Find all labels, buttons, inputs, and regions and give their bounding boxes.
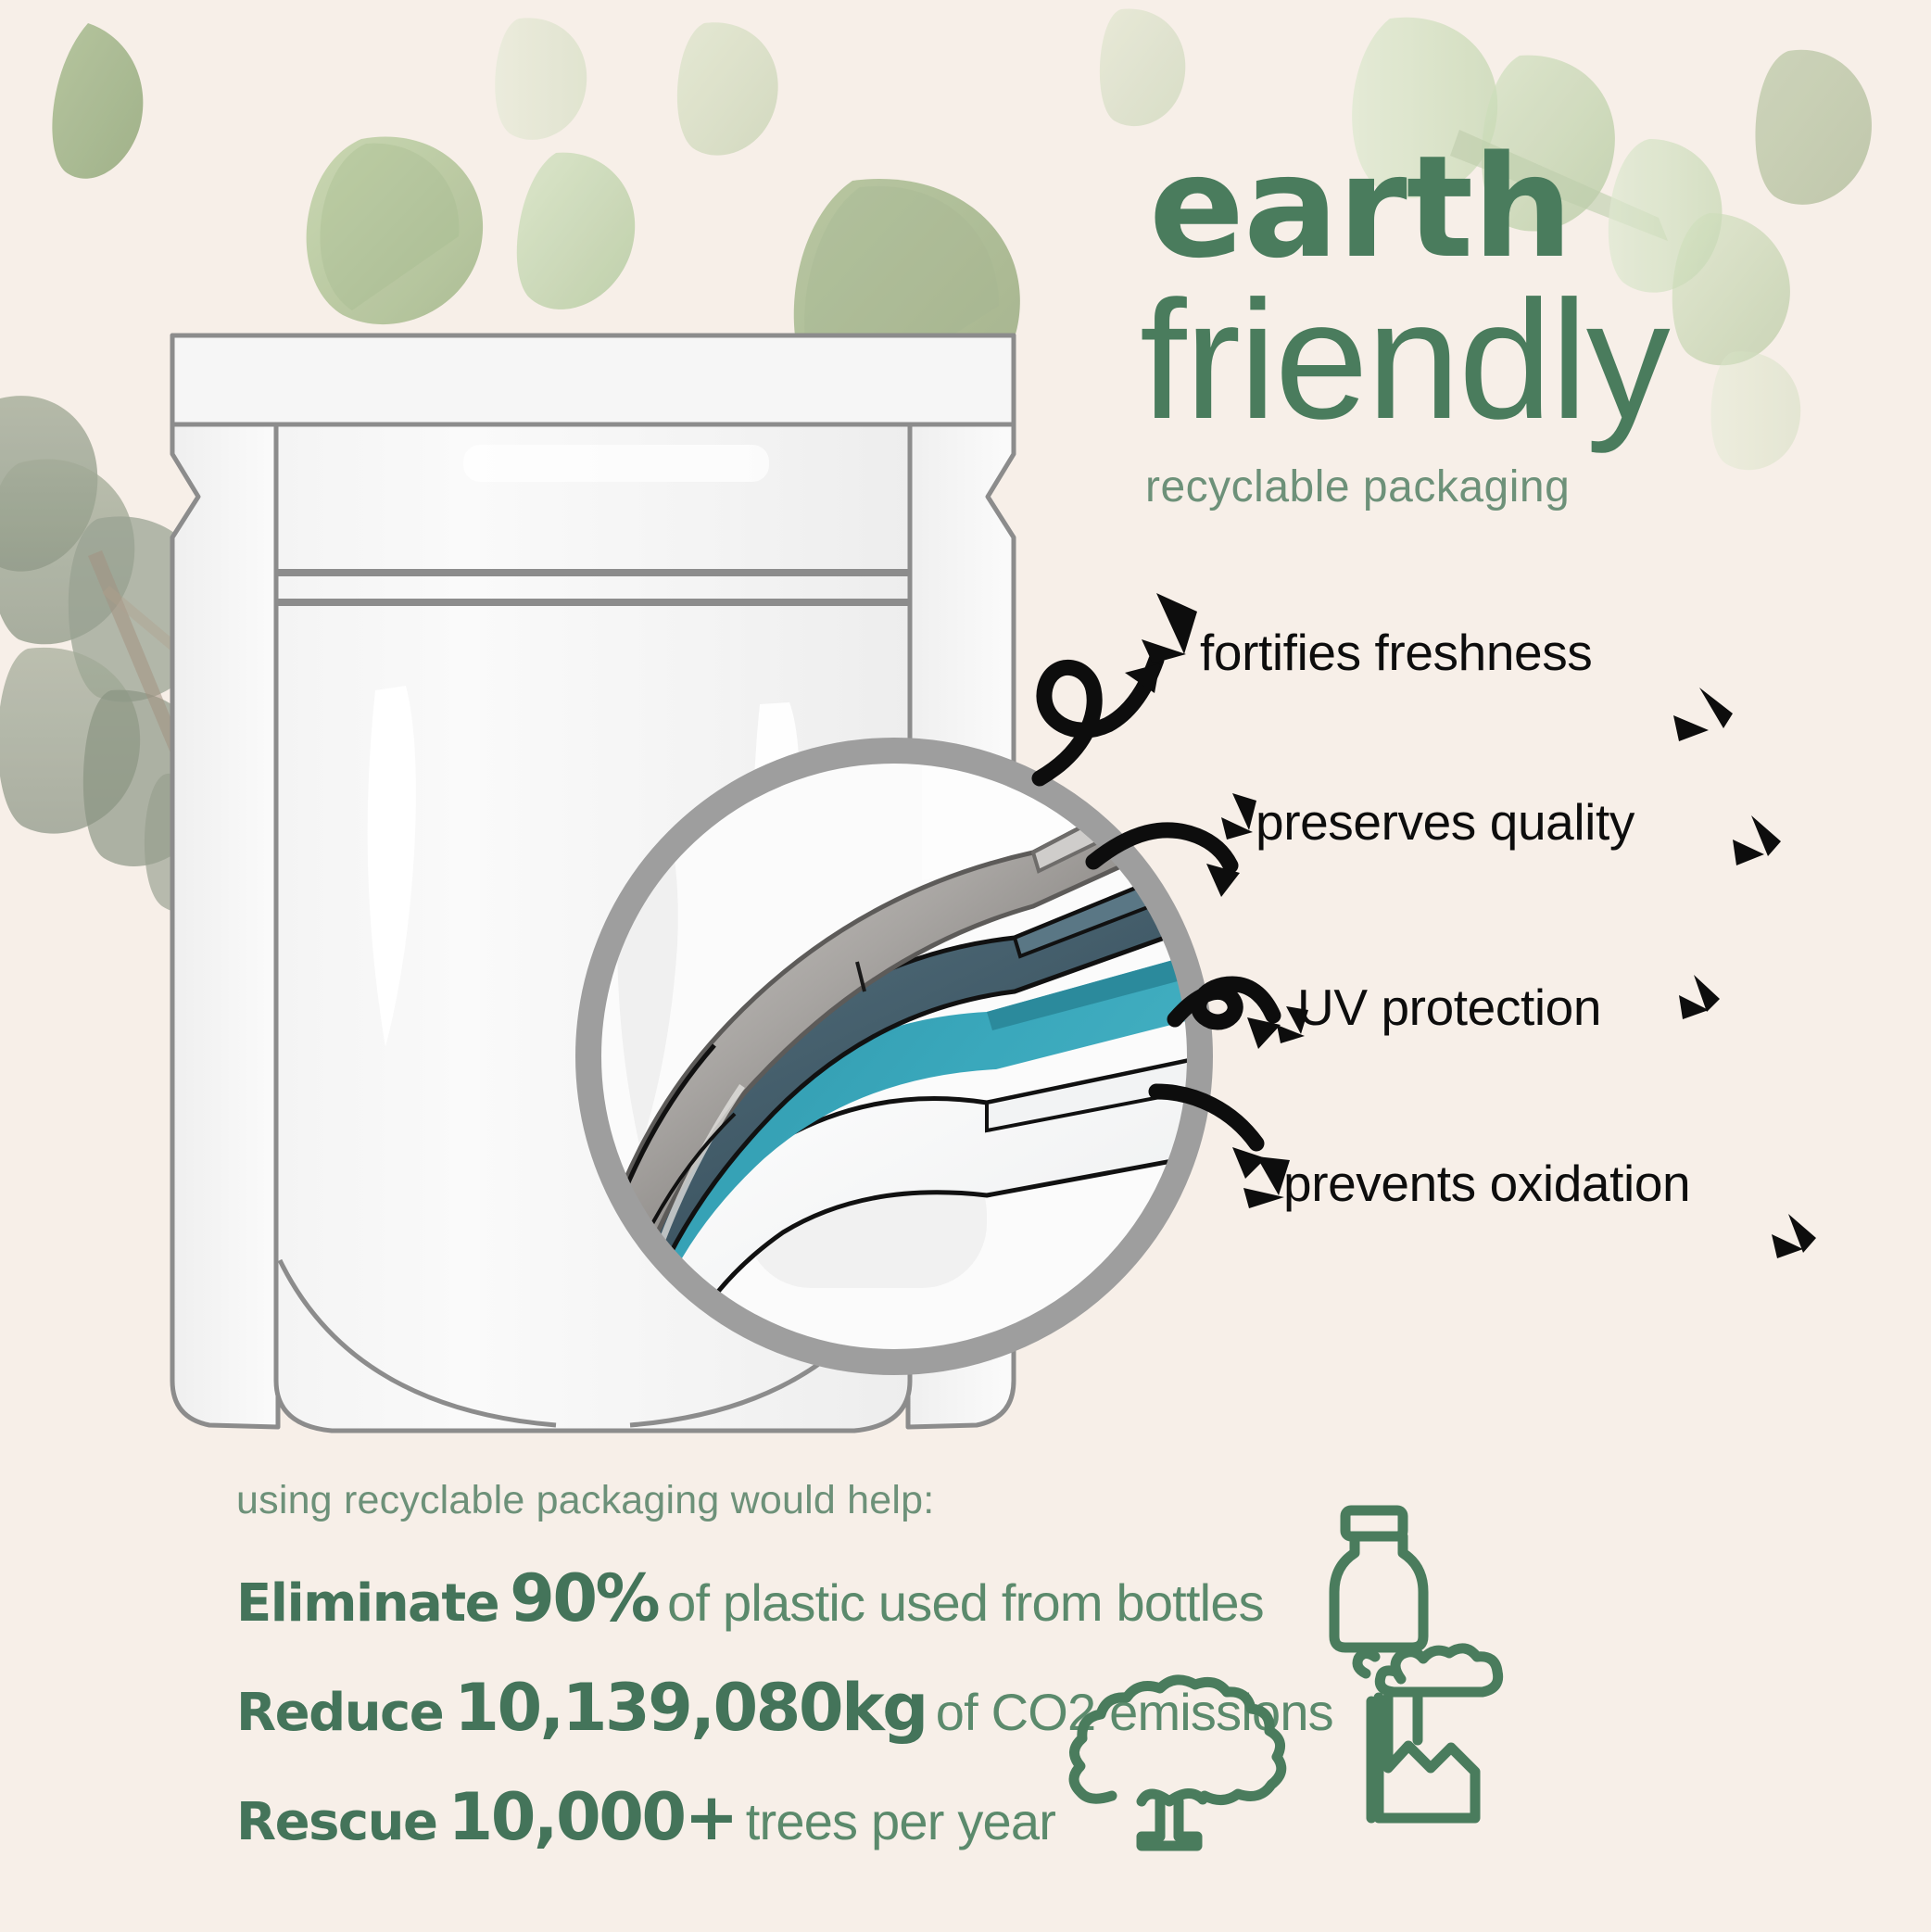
stat-row-plastic: Eliminate90%of plastic used from bottles [236,1560,1626,1636]
heading-block: earth friendly recyclable packaging [1140,139,1872,512]
stats-lead-text: using recyclable packaging would help: [236,1478,1626,1523]
title-friendly: friendly [1140,283,1872,437]
stat-number: 90% [510,1560,658,1636]
callout-uv-protection: UV protection [1297,978,1601,1037]
stat-verb: Reduce [236,1683,443,1743]
stat-row-co2: Reduce10,139,080kgof CO2 emissions [236,1670,1626,1746]
stat-tail: of plastic used from bottles [667,1573,1264,1632]
layer-cross-section-magnifier [551,713,1237,1399]
callout-preserves-quality: preserves quality [1256,792,1634,852]
subtitle-recyclable-packaging: recyclable packaging [1140,461,1872,512]
earth-friendly-infographic: earth friendly recyclable packaging [0,0,1931,1932]
stat-tail: of CO2 emissions [936,1683,1333,1741]
title-earth: earth [1140,139,1872,277]
stat-tail: trees per year [746,1792,1055,1850]
callout-fortifies-freshness: fortifies freshness [1200,623,1592,682]
stat-number: 10,139,080kg [454,1670,927,1746]
impact-stats-block: using recyclable packaging would help: E… [236,1478,1626,1888]
stat-verb: Rescue [236,1792,436,1852]
stat-verb: Eliminate [236,1573,499,1634]
callout-prevents-oxidation: prevents oxidation [1283,1154,1690,1213]
stat-number: 10,000+ [448,1779,736,1855]
stat-row-trees: Rescue10,000+trees per year [236,1779,1626,1855]
